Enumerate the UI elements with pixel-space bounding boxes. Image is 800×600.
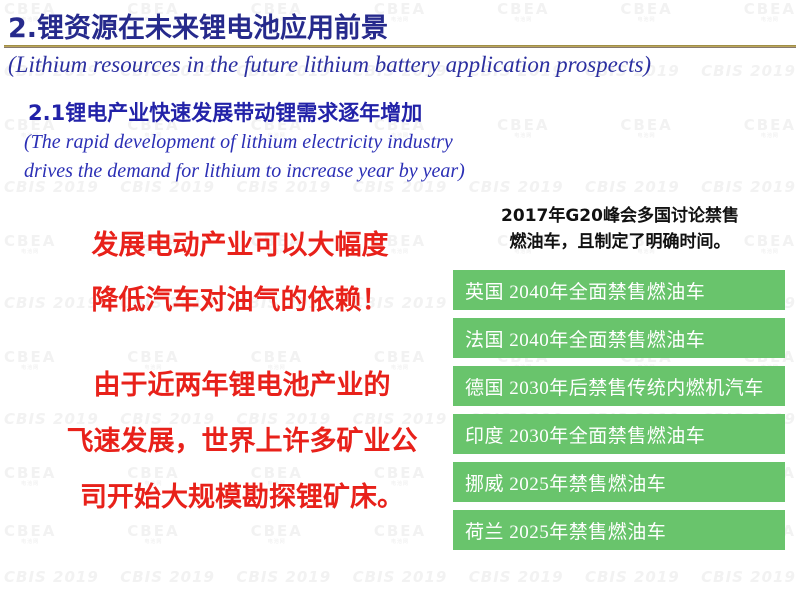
list-item: 德国 2030年后禁售传统内燃机汽车: [453, 366, 785, 406]
slide-content: 2.锂资源在未来锂电池应用前景 (Lithium resources in th…: [0, 0, 800, 600]
list-item: 印度 2030年全面禁售燃油车: [453, 414, 785, 454]
fuel-vehicle-ban-list: 英国 2040年全面禁售燃油车 法国 2040年全面禁售燃油车 德国 2030年…: [453, 270, 785, 558]
list-item: 挪威 2025年禁售燃油车: [453, 462, 785, 502]
slide-title-english: (Lithium resources in the future lithium…: [8, 52, 651, 78]
ban-item-label: 德国 2030年后禁售传统内燃机汽车: [465, 373, 764, 400]
section-heading-english: (The rapid development of lithium electr…: [24, 128, 465, 186]
ban-item-label: 印度 2030年全面禁售燃油车: [465, 421, 705, 448]
ban-item-label: 英国 2040年全面禁售燃油车: [465, 277, 705, 304]
red-statement-electric-industry: 发展电动产业可以大幅度 降低汽车对油气的依赖！: [40, 218, 440, 328]
presentation-slide: CBEA电池网 CBEA电池网 CBEA电池网 CBEA电池网 CBEA电池网 …: [0, 0, 800, 600]
list-item: 荷兰 2025年禁售燃油车: [453, 510, 785, 550]
title-divider-rule: [4, 45, 796, 48]
ban-item-label: 挪威 2025年禁售燃油车: [465, 469, 666, 496]
ban-item-label: 法国 2040年全面禁售燃油车: [465, 325, 705, 352]
list-item: 法国 2040年全面禁售燃油车: [453, 318, 785, 358]
section-heading-chinese: 2.1锂电产业快速发展带动锂需求逐年增加: [28, 97, 422, 127]
ban-item-label: 荷兰 2025年禁售燃油车: [465, 517, 666, 544]
slide-title-chinese: 2.锂资源在未来锂电池应用前景: [8, 6, 388, 45]
red-statement-mining-exploration: 由于近两年锂电池产业的 飞速发展，世界上许多矿业公 司开始大规模勘探锂矿床。: [36, 358, 448, 526]
g20-summit-note: 2017年G20峰会多国讨论禁售 燃油车，且制定了明确时间。: [452, 203, 788, 255]
list-item: 英国 2040年全面禁售燃油车: [453, 270, 785, 310]
